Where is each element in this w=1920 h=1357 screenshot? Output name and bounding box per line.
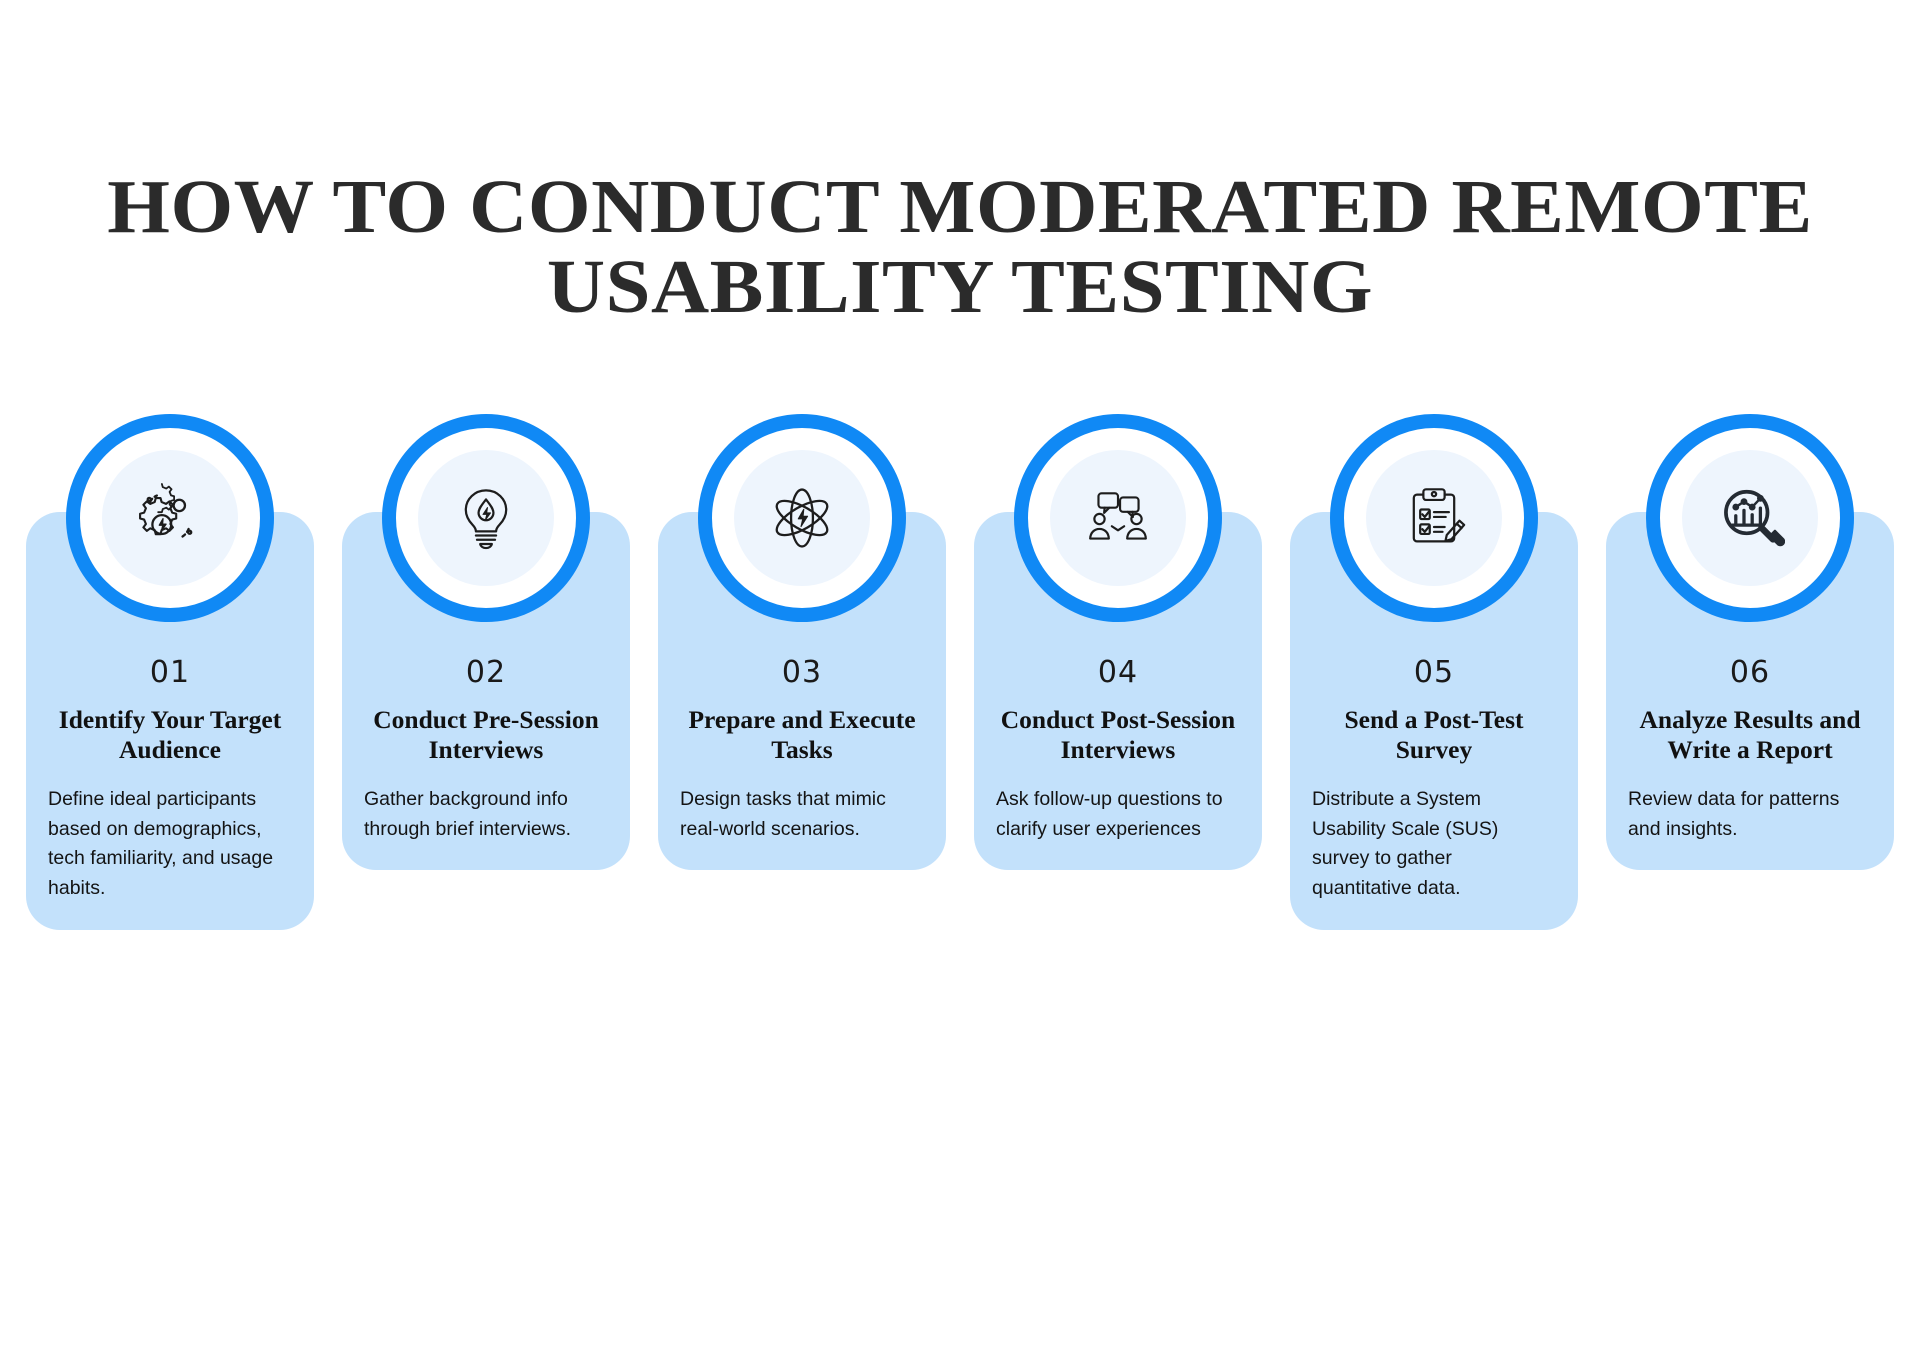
step-desc-04: Ask follow-up questions to clarify user … [996, 785, 1240, 844]
infographic-page: HOW TO CONDUCT MODERATED REMOTE USABILIT… [0, 0, 1920, 1357]
step-card-06[interactable]: 06 Analyze Results and Write a Report Re… [1606, 512, 1894, 870]
step-title-01: Identify Your Target Audience [46, 706, 295, 765]
step-title-04: Conduct Post-Session Interviews [994, 706, 1243, 765]
step-card-04[interactable]: 04 Conduct Post-Session Interviews Ask f… [974, 512, 1262, 870]
title-heading: HOW TO CONDUCT MODERATED REMOTE USABILIT… [0, 168, 1920, 328]
card-body-01: 01 Identify Your Target Audience Define … [26, 512, 314, 930]
step-number-01: 01 [48, 658, 292, 688]
title-line-2: USABILITY TESTING [0, 248, 1920, 328]
step-desc-05: Distribute a System Usability Scale (SUS… [1312, 785, 1556, 904]
card-body-04: 04 Conduct Post-Session Interviews Ask f… [974, 512, 1262, 870]
step-title-03: Prepare and Execute Tasks [678, 706, 927, 765]
steps-row: 01 Identify Your Target Audience Define … [0, 512, 1920, 930]
step-card-01[interactable]: 01 Identify Your Target Audience Define … [26, 512, 314, 930]
step-desc-02: Gather background info through brief int… [364, 785, 608, 844]
clipboard-checklist-pencil-icon [1400, 484, 1468, 552]
step-title-06: Analyze Results and Write a Report [1626, 706, 1875, 765]
step-card-05[interactable]: 05 Send a Post-Test Survey Distribute a … [1290, 512, 1578, 930]
badge-inner-03 [734, 450, 870, 586]
step-number-04: 04 [996, 658, 1240, 688]
step-badge-02 [382, 414, 590, 622]
step-desc-01: Define ideal participants based on demog… [48, 785, 292, 904]
step-number-05: 05 [1312, 658, 1556, 688]
gears-energy-icon [135, 483, 205, 553]
step-badge-05 [1330, 414, 1538, 622]
step-title-05: Send a Post-Test Survey [1310, 706, 1559, 765]
step-badge-03 [698, 414, 906, 622]
step-number-06: 06 [1628, 658, 1872, 688]
atom-energy-icon [767, 483, 837, 553]
badge-inner-06 [1682, 450, 1818, 586]
step-desc-03: Design tasks that mimic real-world scena… [680, 785, 924, 844]
step-desc-06: Review data for patterns and insights. [1628, 785, 1872, 844]
step-card-03[interactable]: 03 Prepare and Execute Tasks Design task… [658, 512, 946, 870]
step-badge-06 [1646, 414, 1854, 622]
step-card-02[interactable]: 02 Conduct Pre-Session Interviews Gather… [342, 512, 630, 870]
conversation-people-icon [1081, 481, 1155, 555]
title-line-1: HOW TO CONDUCT MODERATED REMOTE [0, 168, 1920, 248]
badge-inner-02 [418, 450, 554, 586]
page-title: HOW TO CONDUCT MODERATED REMOTE USABILIT… [0, 168, 1920, 328]
card-body-03: 03 Prepare and Execute Tasks Design task… [658, 512, 946, 870]
step-badge-04 [1014, 414, 1222, 622]
card-body-06: 06 Analyze Results and Write a Report Re… [1606, 512, 1894, 870]
step-number-03: 03 [680, 658, 924, 688]
badge-inner-01 [102, 450, 238, 586]
card-body-05: 05 Send a Post-Test Survey Distribute a … [1290, 512, 1578, 930]
step-title-02: Conduct Pre-Session Interviews [362, 706, 611, 765]
magnifier-bar-chart-icon [1715, 483, 1785, 553]
badge-inner-04 [1050, 450, 1186, 586]
lightbulb-idea-icon [452, 484, 520, 552]
card-body-02: 02 Conduct Pre-Session Interviews Gather… [342, 512, 630, 870]
badge-inner-05 [1366, 450, 1502, 586]
step-number-02: 02 [364, 658, 608, 688]
step-badge-01 [66, 414, 274, 622]
